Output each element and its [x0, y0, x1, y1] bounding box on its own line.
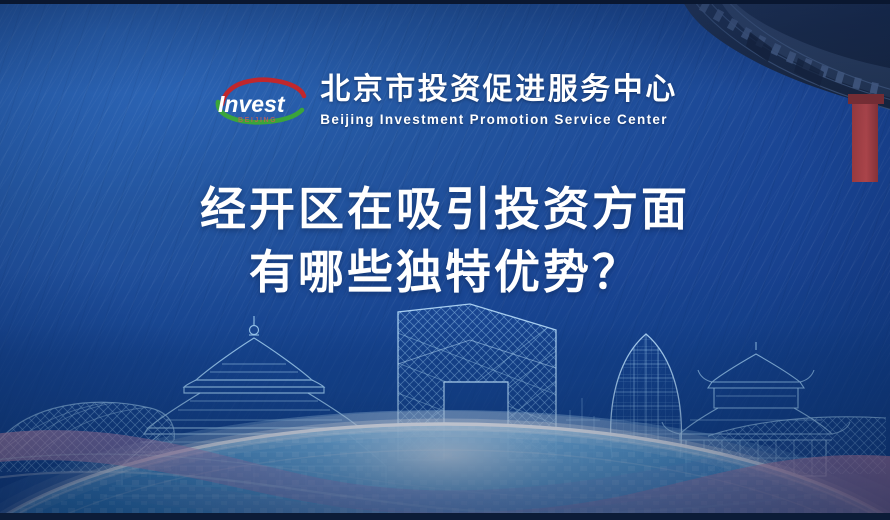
- letterbox-bar-bottom: [0, 513, 890, 520]
- invest-wordmark: Invest: [218, 91, 286, 117]
- light-ribbons: [0, 340, 890, 520]
- headline-block: 经开区在吸引投资方面 有哪些独特优势？: [0, 178, 890, 305]
- invest-logo-icon: Invest BEIJING: [212, 74, 308, 128]
- org-name-en: Beijing Investment Promotion Service Cen…: [320, 112, 678, 128]
- invest-sub-wordmark: BEIJING: [238, 117, 277, 124]
- letterbox-bar-top: [0, 0, 890, 4]
- headline-line-2: 有哪些独特优势？: [0, 241, 890, 304]
- headline-line-1: 经开区在吸引投资方面: [0, 178, 890, 241]
- brand-header: Invest BEIJING 北京市投资促进服务中心 Beijing Inves…: [0, 74, 890, 128]
- video-frame: Invest BEIJING 北京市投资促进服务中心 Beijing Inves…: [0, 0, 890, 520]
- org-name-cn: 北京市投资促进服务中心: [320, 74, 678, 106]
- org-name-group: 北京市投资促进服务中心 Beijing Investment Promotion…: [320, 74, 678, 128]
